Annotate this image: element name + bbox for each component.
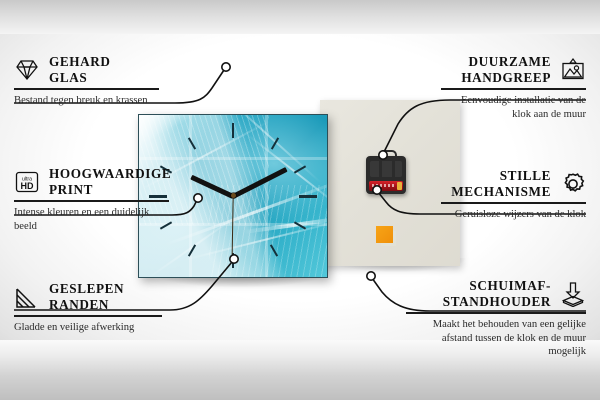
feature-title-line2: GLAS — [49, 70, 87, 85]
feature-title-line2: PRINT — [49, 182, 93, 197]
glass-panel-seam — [139, 157, 327, 160]
mechanism-body-detail — [370, 161, 402, 177]
feature-duurzame-handgreep[interactable]: DUURZAME HANDGREEP Eenvoudige installati… — [441, 54, 586, 121]
clock-tick-12 — [232, 123, 234, 138]
feature-title-line1: DUURZAME — [469, 54, 551, 69]
clock-center-pin — [231, 193, 236, 198]
foam-spacer — [376, 226, 393, 243]
feature-rule — [14, 200, 169, 201]
spacer-arrow-icon — [560, 281, 586, 307]
feature-rule — [441, 88, 586, 89]
feature-hoogwaardige-print[interactable]: ultra HD HOOGWAARDIGE PRINT Intense kleu… — [14, 166, 169, 233]
feature-description: Bestand tegen breuk en krassen — [14, 94, 159, 108]
background-top-band — [0, 0, 600, 34]
picture-frame-icon — [560, 57, 586, 83]
clock-tick-3 — [299, 195, 317, 198]
feature-description: Maakt het behouden van een gelijke afsta… — [406, 318, 586, 360]
feature-rule — [14, 315, 162, 316]
feature-gehard-glas[interactable]: GEHARD GLAS Bestand tegen breuk en krass… — [14, 54, 159, 108]
feature-title-line2: RANDEN — [49, 297, 109, 312]
feature-title-line1: STILLE — [500, 168, 551, 183]
feather-texture-lower — [209, 185, 328, 278]
feature-title-line1: SCHUIMAF- — [469, 278, 551, 293]
glass-panel-seam — [265, 115, 268, 277]
feature-title-line1: GESLEPEN — [49, 281, 124, 296]
feature-title-line1: HOOGWAARDIGE — [49, 166, 171, 181]
feature-rule — [14, 88, 159, 89]
feature-description: Eenvoudige installatie van de klok aan d… — [441, 94, 586, 122]
gear-icon — [560, 171, 586, 197]
feature-title-line2: HANDGREEP — [461, 70, 551, 85]
svg-text:HD: HD — [21, 181, 34, 191]
battery — [369, 181, 403, 191]
beveled-edges-icon — [14, 284, 40, 310]
feature-title-line2: STANDHOUDER — [443, 294, 551, 309]
clock-mechanism — [366, 156, 406, 194]
feature-rule — [406, 312, 586, 313]
feature-description: Geruisloze wijzers van de klok — [441, 208, 586, 222]
feature-title-line1: GEHARD — [49, 54, 110, 69]
feature-description: Intense kleuren en een duidelijk beeld — [14, 206, 169, 234]
diamond-icon — [14, 57, 40, 83]
feature-geslepen-randen[interactable]: GESLEPEN RANDEN Gladde en veilige afwerk… — [14, 281, 162, 335]
feature-title-line2: MECHANISME — [451, 184, 551, 199]
feature-stille-mechanisme[interactable]: STILLE MECHANISME Geruisloze wijzers van… — [441, 168, 586, 222]
battery-label — [372, 184, 394, 187]
feature-schuimafstandhouder[interactable]: SCHUIMAF- STANDHOUDER Maakt het behouden… — [406, 278, 586, 359]
feature-description: Gladde en veilige afwerking — [14, 321, 162, 335]
ultra-hd-icon: ultra HD — [14, 169, 40, 195]
infographic-canvas: GEHARD GLAS Bestand tegen breuk en krass… — [0, 0, 600, 400]
battery-positive-tip — [397, 182, 402, 190]
feature-rule — [441, 202, 586, 203]
